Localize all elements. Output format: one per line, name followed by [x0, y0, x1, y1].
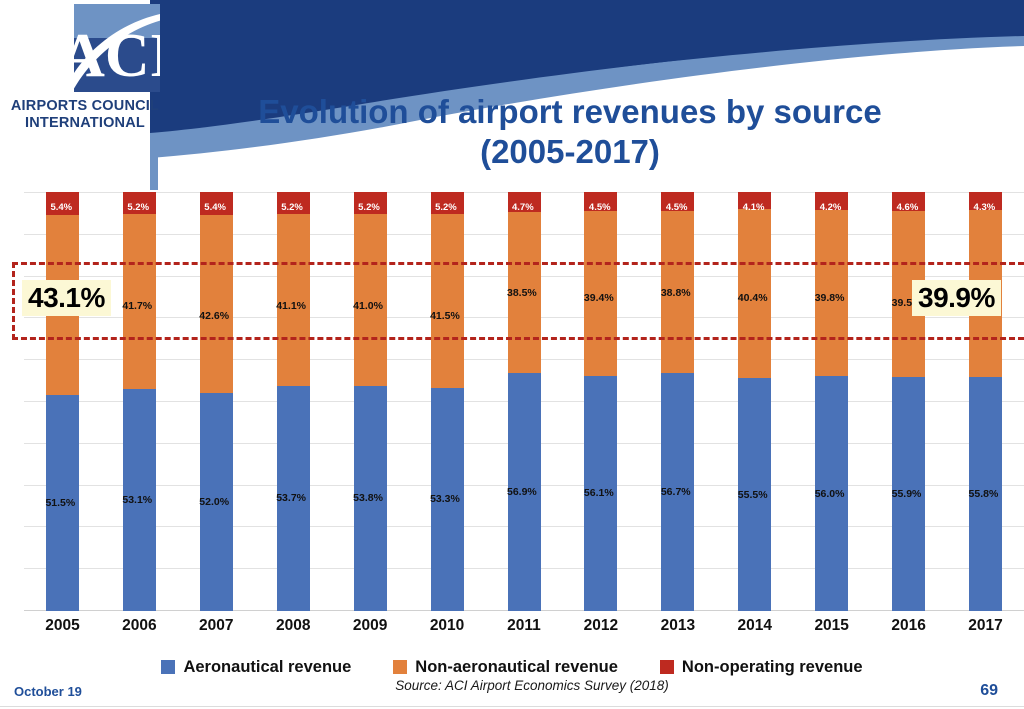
- bar-2008[interactable]: [277, 192, 310, 611]
- legend-label-1: Non-aeronautical revenue: [415, 658, 618, 677]
- chart-plot-area: 5.4%51.5%5.2%53.1%5.4%52.0%5.2%53.7%5.2%…: [0, 192, 1024, 611]
- value-label-non-operating-2006: 5.2%: [127, 202, 149, 213]
- x-axis-label-2009: 2009: [340, 617, 400, 635]
- legend-swatch-icon-2: [660, 660, 674, 674]
- value-label-non-operating-2005: 5.4%: [50, 202, 72, 213]
- legend-item-1[interactable]: Non-aeronautical revenue: [393, 658, 618, 677]
- x-axis-label-2007: 2007: [186, 617, 246, 635]
- value-label-aeronautical-2014: 55.5%: [738, 489, 768, 501]
- slide-title-line1: Evolution of airport revenues by source: [150, 92, 990, 132]
- legend-swatch-icon-0: [161, 660, 175, 674]
- value-label-aeronautical-2008: 53.7%: [276, 492, 306, 504]
- value-label-non-operating-2009: 5.2%: [358, 202, 380, 213]
- x-axis-label-2017: 2017: [956, 617, 1016, 635]
- bar-2011[interactable]: [508, 192, 541, 611]
- x-axis-label-2015: 2015: [802, 617, 862, 635]
- legend-swatch-icon-1: [393, 660, 407, 674]
- value-label-non-operating-2012: 4.5%: [589, 202, 611, 213]
- x-axis-label-2013: 2013: [648, 617, 708, 635]
- value-label-non-operating-2010: 5.2%: [435, 202, 457, 213]
- aci-logo-text: AIRPORTS COUNCIL INTERNATIONAL: [10, 98, 160, 132]
- slide-title-line2: (2005-2017): [150, 132, 990, 172]
- aci-logo-line2: INTERNATIONAL: [10, 115, 160, 132]
- value-label-non-operating-2017: 4.3%: [974, 202, 996, 213]
- legend-label-0: Aeronautical revenue: [183, 658, 351, 677]
- callout-2005: 43.1%: [22, 280, 111, 316]
- legend-label-2: Non-operating revenue: [682, 658, 863, 677]
- value-label-aeronautical-2012: 56.1%: [584, 487, 614, 499]
- x-axis-label-2010: 2010: [417, 617, 477, 635]
- bar-2015[interactable]: [815, 192, 848, 611]
- chart-legend: Aeronautical revenueNon-aeronautical rev…: [0, 655, 1024, 679]
- bar-2007[interactable]: [200, 192, 233, 611]
- bar-2013[interactable]: [661, 192, 694, 611]
- aci-logo: ACI AIRPORTS COUNCIL INTERNATIONAL: [10, 2, 160, 152]
- bar-2017[interactable]: [969, 192, 1002, 611]
- bar-2009[interactable]: [354, 192, 387, 611]
- x-axis-label-2008: 2008: [263, 617, 323, 635]
- value-label-non-operating-2014: 4.1%: [743, 202, 765, 213]
- value-label-non-operating-2011: 4.7%: [512, 202, 534, 213]
- value-label-non-operating-2015: 4.2%: [820, 202, 842, 213]
- x-axis-labels: 2005200620072008200920102011201220132014…: [0, 613, 1024, 641]
- source-note: Source: ACI Airport Economics Survey (20…: [0, 678, 1024, 693]
- value-label-aeronautical-2015: 56.0%: [815, 488, 845, 500]
- value-label-aeronautical-2006: 53.1%: [122, 494, 152, 506]
- aci-logo-mark: ACI: [74, 4, 160, 92]
- value-label-aeronautical-2017: 55.8%: [969, 488, 999, 500]
- x-axis-label-2005: 2005: [32, 617, 92, 635]
- value-label-aeronautical-2011: 56.9%: [507, 486, 537, 498]
- callout-2017: 39.9%: [912, 280, 1001, 316]
- bar-2016[interactable]: [892, 192, 925, 611]
- x-axis-label-2006: 2006: [109, 617, 169, 635]
- slide-title: Evolution of airport revenues by source …: [150, 92, 990, 172]
- x-axis-label-2016: 2016: [879, 617, 939, 635]
- footer-date: October 19: [14, 684, 82, 699]
- value-label-non-operating-2013: 4.5%: [666, 202, 688, 213]
- bar-2012[interactable]: [584, 192, 617, 611]
- value-label-aeronautical-2005: 51.5%: [45, 497, 75, 509]
- aci-logo-line1: AIRPORTS COUNCIL: [10, 98, 160, 115]
- x-axis-label-2014: 2014: [725, 617, 785, 635]
- bar-2010[interactable]: [431, 192, 464, 611]
- x-axis-label-2011: 2011: [494, 617, 554, 635]
- value-label-aeronautical-2007: 52.0%: [199, 496, 229, 508]
- footer-divider: [0, 706, 1024, 707]
- legend-item-2[interactable]: Non-operating revenue: [660, 658, 863, 677]
- highlight-range-box: [12, 262, 1024, 340]
- value-label-non-operating-2016: 4.6%: [897, 202, 919, 213]
- x-axis-label-2012: 2012: [571, 617, 631, 635]
- legend-item-0[interactable]: Aeronautical revenue: [161, 658, 351, 677]
- page-number: 69: [980, 682, 998, 700]
- value-label-non-operating-2008: 5.2%: [281, 202, 303, 213]
- bar-2005[interactable]: [46, 192, 79, 611]
- value-label-aeronautical-2010: 53.3%: [430, 493, 460, 505]
- bar-2006[interactable]: [123, 192, 156, 611]
- value-label-aeronautical-2013: 56.7%: [661, 486, 691, 498]
- value-label-aeronautical-2016: 55.9%: [892, 488, 922, 500]
- bar-2014[interactable]: [738, 192, 771, 611]
- slide-canvas: ACI AIRPORTS COUNCIL INTERNATIONAL Evolu…: [0, 0, 1024, 709]
- value-label-aeronautical-2009: 53.8%: [353, 492, 383, 504]
- value-label-non-operating-2007: 5.4%: [204, 202, 226, 213]
